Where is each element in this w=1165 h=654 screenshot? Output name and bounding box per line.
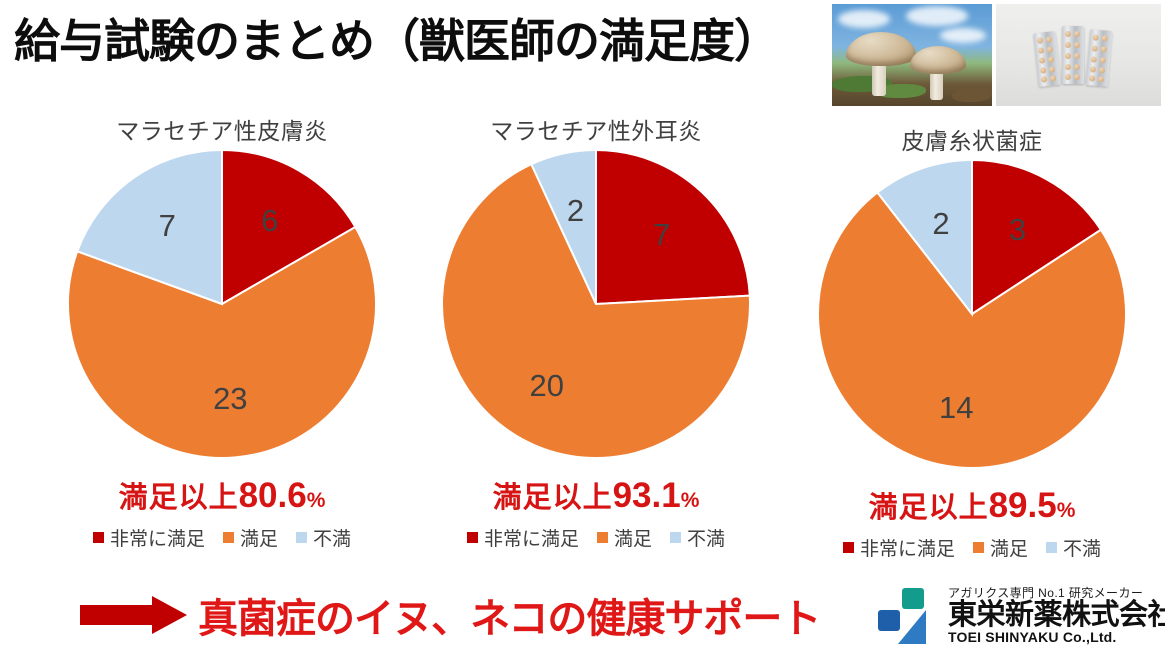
satisfaction-percent: 満足以上89.5% xyxy=(786,484,1158,526)
banner-text: 真菌症のイヌ、ネコの健康サポート xyxy=(198,586,820,644)
legend-swatch xyxy=(843,542,854,553)
legend-swatch xyxy=(467,532,478,543)
chart-title: マラセチア性外耳炎 xyxy=(410,112,782,146)
chart-panel: マラセチア性皮膚炎 6237 満足以上80.6% 非常に満足満足不満 xyxy=(36,112,408,562)
mushroom-photo xyxy=(832,4,992,106)
pct-value: 80.6 xyxy=(239,476,307,515)
legend-label: 非常に満足 xyxy=(110,524,205,551)
pie-svg xyxy=(816,158,1128,470)
legend-item[interactable]: 非常に満足 xyxy=(467,524,579,551)
pie-svg xyxy=(66,148,378,460)
legend-item[interactable]: 満足 xyxy=(973,534,1028,561)
legend-label: 満足 xyxy=(240,524,278,551)
pct-prefix: 満足以上 xyxy=(869,492,989,524)
legend-swatch xyxy=(223,532,234,543)
legend-item[interactable]: 満足 xyxy=(223,524,278,551)
chart-title: マラセチア性皮膚炎 xyxy=(36,112,408,146)
legend-swatch xyxy=(597,532,608,543)
pie-slice xyxy=(596,150,750,304)
right-arrow-icon xyxy=(80,594,188,636)
legend-item[interactable]: 不満 xyxy=(1046,534,1101,561)
chart-legend: 非常に満足満足不満 xyxy=(410,524,782,551)
chart-legend: 非常に満足満足不満 xyxy=(36,524,408,551)
logo-tagline: アガリクス専門 No.1 研究メーカー xyxy=(948,587,1165,600)
legend-label: 不満 xyxy=(687,524,725,551)
pie-slices xyxy=(818,160,1126,468)
legend-label: 不満 xyxy=(1063,534,1101,561)
pie-slices xyxy=(68,150,376,458)
pie-chart: 3142 xyxy=(816,158,1128,470)
legend-label: 満足 xyxy=(990,534,1028,561)
legend-item[interactable]: 非常に満足 xyxy=(93,524,205,551)
legend-label: 満足 xyxy=(614,524,652,551)
pct-prefix: 満足以上 xyxy=(119,482,239,514)
legend-swatch xyxy=(1046,542,1057,553)
pct-prefix: 満足以上 xyxy=(493,482,613,514)
chart-panel: 皮膚糸状菌症 3142 満足以上89.5% 非常に満足満足不満 xyxy=(786,122,1158,572)
chart-panel: マラセチア性外耳炎 7202 満足以上93.1% 非常に満足満足不満 xyxy=(410,112,782,562)
chart-legend: 非常に満足満足不満 xyxy=(786,534,1158,561)
legend-swatch xyxy=(296,532,307,543)
bottom-banner: 真菌症のイヌ、ネコの健康サポート xyxy=(80,586,820,644)
pie-slices xyxy=(442,150,750,458)
legend-item[interactable]: 非常に満足 xyxy=(843,534,955,561)
pct-value: 89.5 xyxy=(989,486,1057,525)
chart-title: 皮膚糸状菌症 xyxy=(786,122,1158,156)
logo-company-jp: 東栄新薬株式会社 xyxy=(948,600,1165,630)
page-title: 給与試験のまとめ（獣医師の満足度） xyxy=(14,16,779,67)
pct-symbol: % xyxy=(1057,499,1076,522)
legend-label: 非常に満足 xyxy=(484,524,579,551)
pie-chart: 7202 xyxy=(440,148,752,460)
company-logo: アガリクス専門 No.1 研究メーカー 東栄新薬株式会社 TOEI SHINYA… xyxy=(876,586,1165,646)
legend-swatch xyxy=(670,532,681,543)
satisfaction-percent: 満足以上93.1% xyxy=(410,474,782,516)
legend-item[interactable]: 満足 xyxy=(597,524,652,551)
toei-logo-mark-icon xyxy=(876,586,940,646)
pct-symbol: % xyxy=(681,489,700,512)
legend-swatch xyxy=(973,542,984,553)
pct-value: 93.1 xyxy=(613,476,681,515)
satisfaction-percent: 満足以上80.6% xyxy=(36,474,408,516)
pie-svg xyxy=(440,148,752,460)
pie-chart: 6237 xyxy=(66,148,378,460)
legend-item[interactable]: 不満 xyxy=(296,524,351,551)
logo-company-en: TOEI SHINYAKU Co.,Ltd. xyxy=(948,630,1165,645)
legend-label: 非常に満足 xyxy=(860,534,955,561)
tablets-photo xyxy=(996,4,1161,106)
legend-swatch xyxy=(93,532,104,543)
legend-label: 不満 xyxy=(313,524,351,551)
legend-item[interactable]: 不満 xyxy=(670,524,725,551)
pct-symbol: % xyxy=(307,489,326,512)
